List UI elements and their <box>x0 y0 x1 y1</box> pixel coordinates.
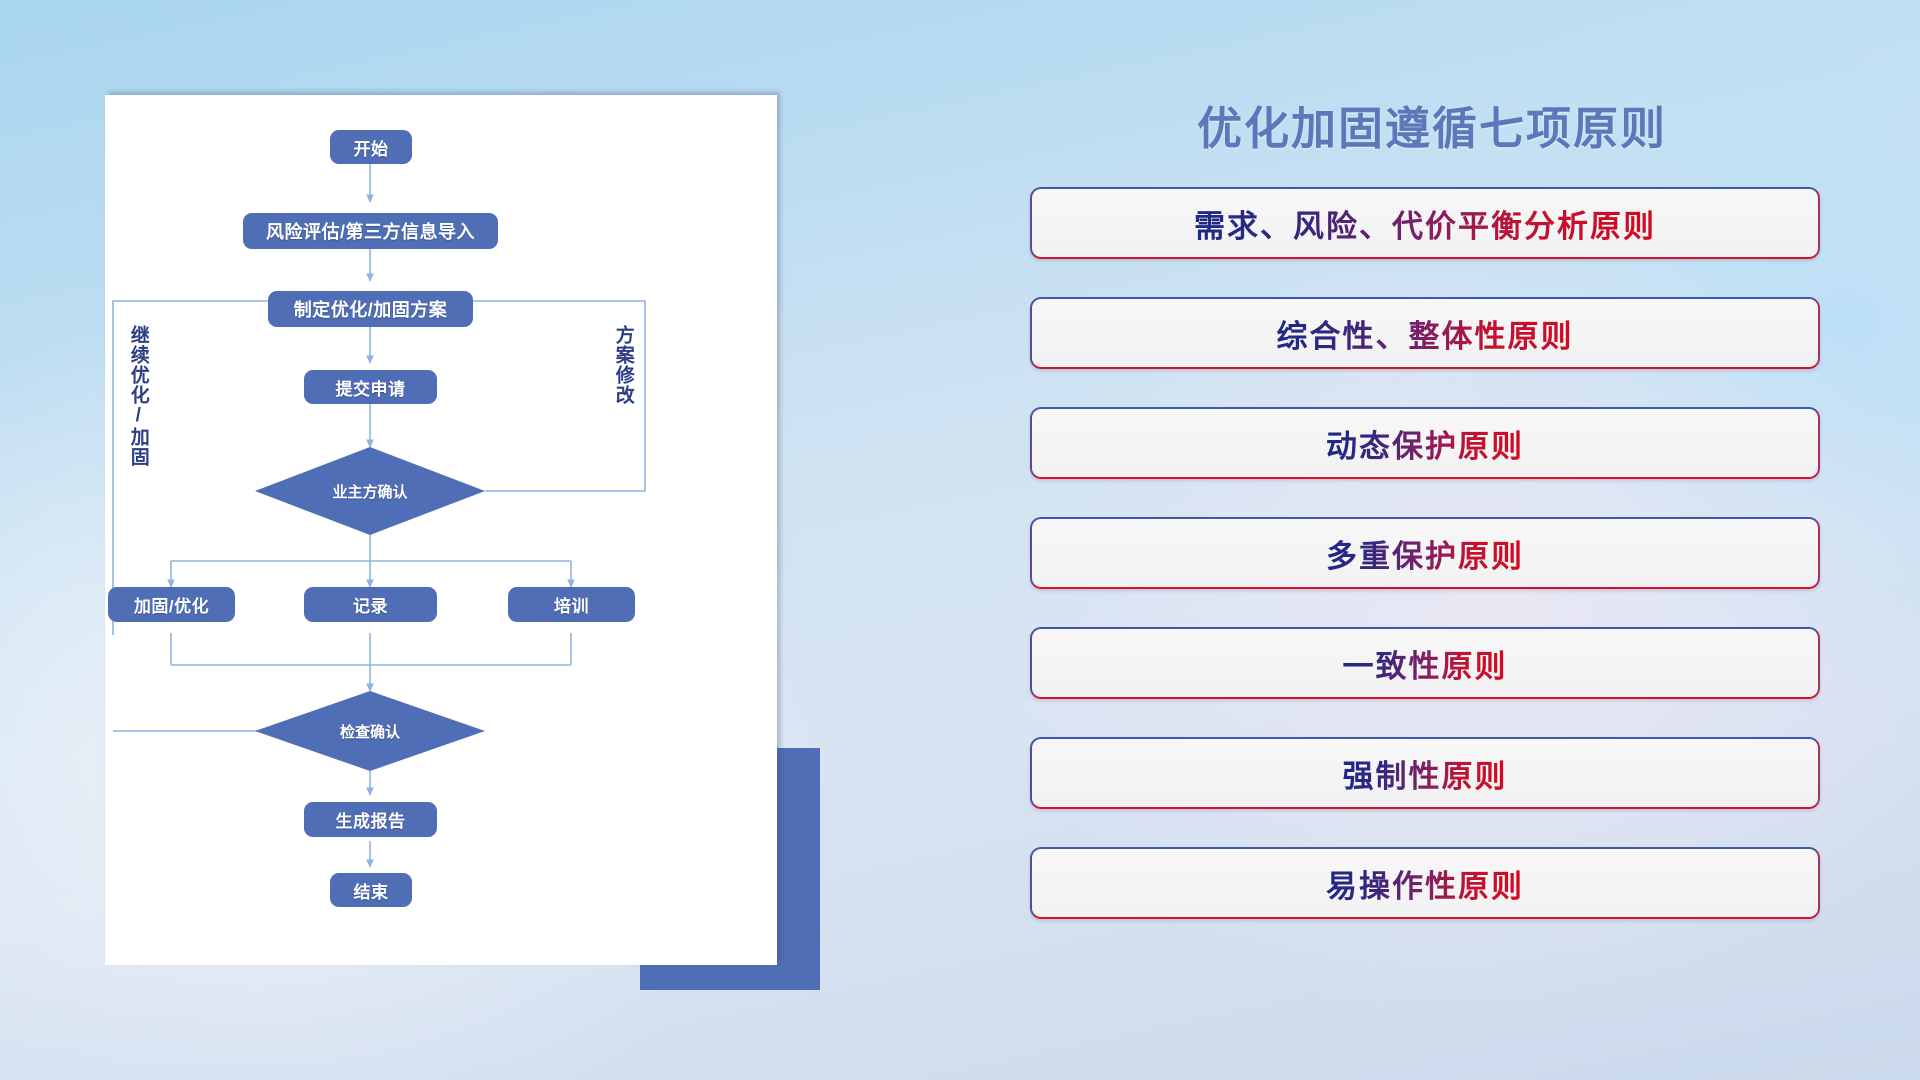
flow-node-risk-assessment-label: 风险评估/第三方信息导入 <box>266 218 475 244</box>
flow-node-end-label: 结束 <box>354 878 389 903</box>
flow-node-report[interactable]: 生成报告 <box>304 802 437 837</box>
flow-label-plan-revision: 方案修改 <box>613 325 633 405</box>
principle-label: 需求、风险、代价平衡分析原则 <box>1194 201 1656 246</box>
panel-title: 优化加固遵循七项原则 <box>1022 92 1842 157</box>
flow-node-plan-label: 制定优化/加固方案 <box>294 296 448 322</box>
principle-card[interactable]: 需求、风险、代价平衡分析原则 <box>1030 187 1820 259</box>
flow-node-record-label: 记录 <box>353 592 388 617</box>
flow-node-risk-assessment[interactable]: 风险评估/第三方信息导入 <box>243 213 498 249</box>
flow-node-end[interactable]: 结束 <box>330 873 412 907</box>
principle-label: 多重保护原则 <box>1326 531 1524 576</box>
principle-label: 综合性、整体性原则 <box>1277 311 1574 356</box>
flow-label-continue-optimize: 继续优化/加固 <box>128 325 148 467</box>
principle-card[interactable]: 易操作性原则 <box>1030 847 1820 919</box>
principle-card[interactable]: 多重保护原则 <box>1030 517 1820 589</box>
flow-node-owner-confirm-label: 业主方确认 <box>332 481 407 502</box>
flow-node-reinforce[interactable]: 加固/优化 <box>108 587 235 622</box>
flow-node-check-confirm[interactable]: 检查确认 <box>255 691 485 771</box>
principle-label: 一致性原则 <box>1343 641 1508 686</box>
principle-label: 强制性原则 <box>1343 751 1508 796</box>
flow-node-record[interactable]: 记录 <box>304 587 437 622</box>
flow-node-training[interactable]: 培训 <box>508 587 635 622</box>
flow-node-check-confirm-label: 检查确认 <box>340 721 400 742</box>
principle-card[interactable]: 一致性原则 <box>1030 627 1820 699</box>
flowchart-card: 开始 风险评估/第三方信息导入 制定优化/加固方案 提交申请 业主方确认 加固/… <box>105 95 777 965</box>
flow-node-submit-label: 提交申请 <box>336 375 406 400</box>
flow-node-report-label: 生成报告 <box>336 807 406 832</box>
flow-node-start[interactable]: 开始 <box>330 130 412 164</box>
flow-node-owner-confirm[interactable]: 业主方确认 <box>255 447 485 535</box>
flow-node-start-label: 开始 <box>354 135 389 160</box>
principle-label: 易操作性原则 <box>1326 861 1524 906</box>
slide-canvas: 开始 风险评估/第三方信息导入 制定优化/加固方案 提交申请 业主方确认 加固/… <box>0 0 1920 1080</box>
principle-label: 动态保护原则 <box>1326 421 1524 466</box>
flow-node-submit[interactable]: 提交申请 <box>304 370 437 404</box>
flow-node-training-label: 培训 <box>554 592 589 617</box>
principle-card[interactable]: 综合性、整体性原则 <box>1030 297 1820 369</box>
principles-panel: 优化加固遵循七项原则 需求、风险、代价平衡分析原则 综合性、整体性原则 动态保护… <box>1022 92 1842 992</box>
flow-node-reinforce-label: 加固/优化 <box>134 592 209 617</box>
flow-node-plan[interactable]: 制定优化/加固方案 <box>268 291 473 327</box>
principle-card[interactable]: 强制性原则 <box>1030 737 1820 809</box>
principle-card[interactable]: 动态保护原则 <box>1030 407 1820 479</box>
